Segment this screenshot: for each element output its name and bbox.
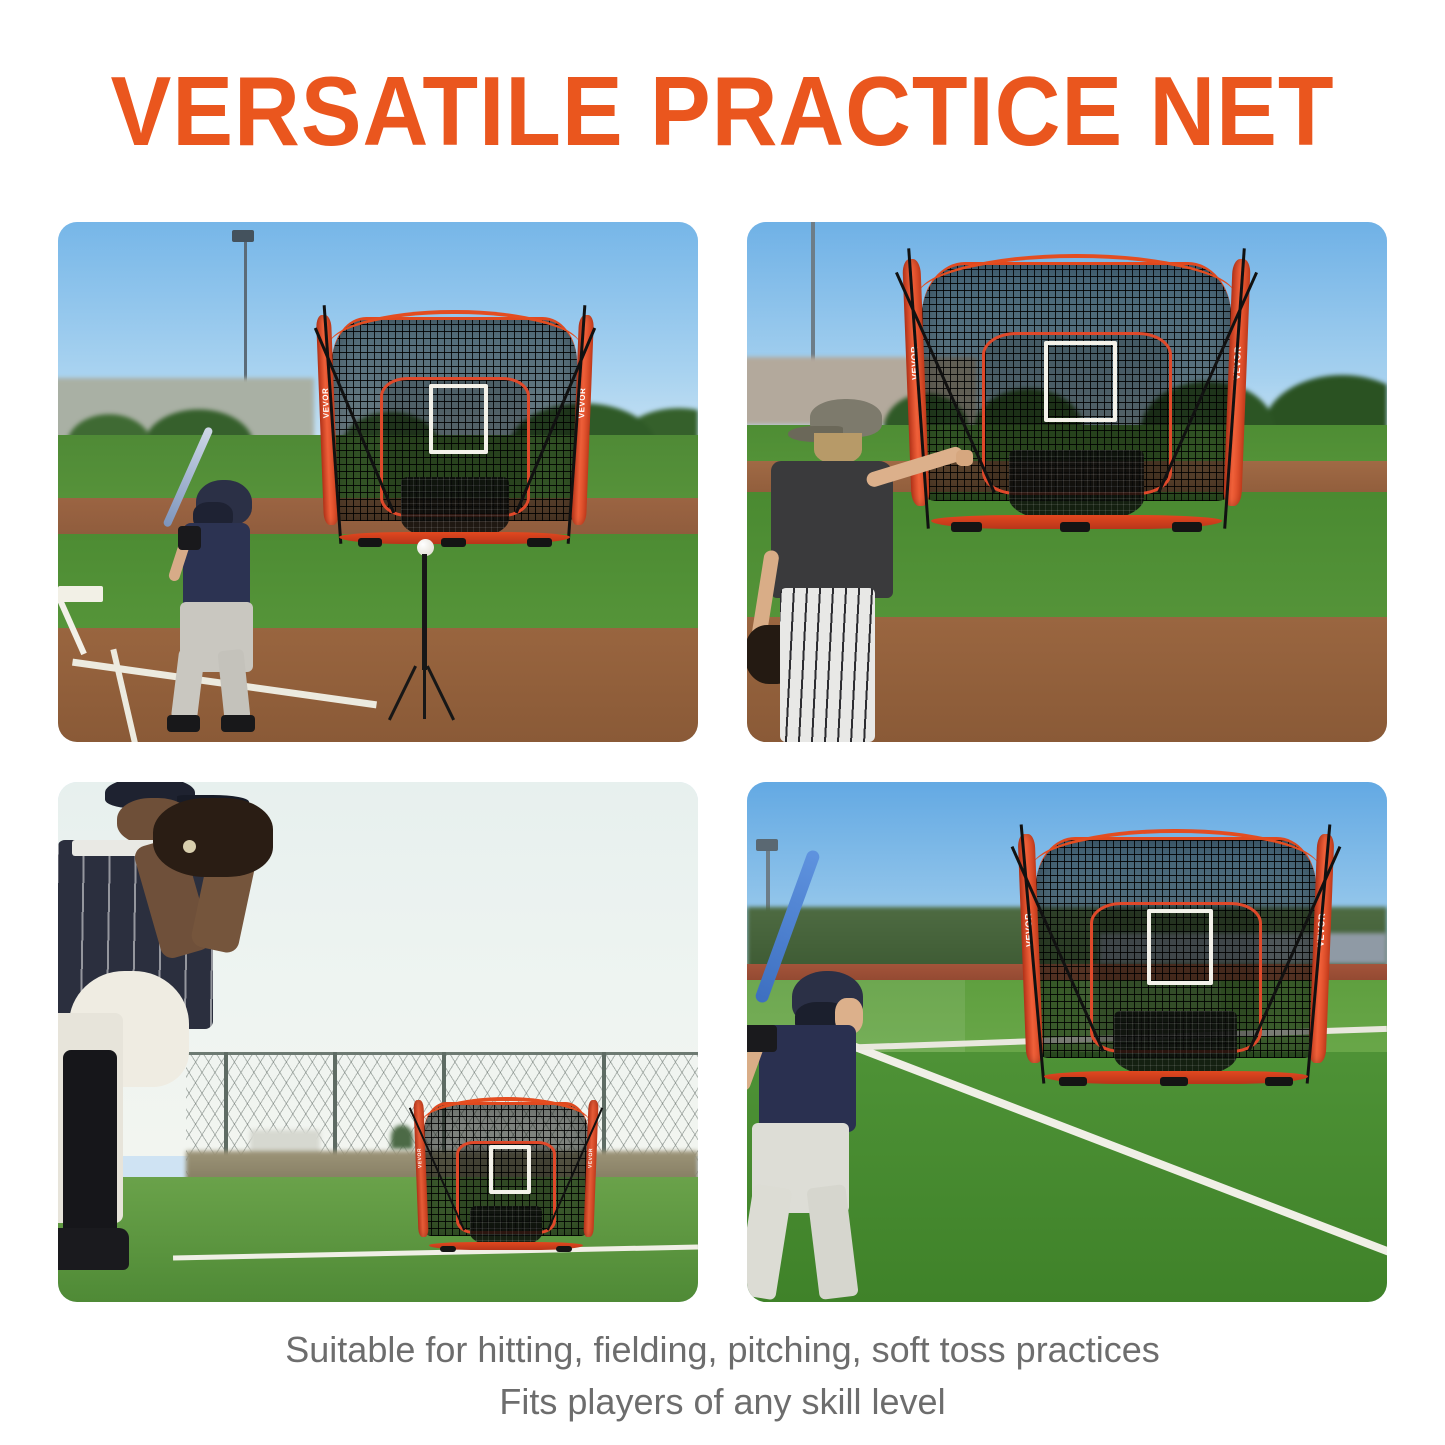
page-title: VERSATILE PRACTICE NET [51, 62, 1395, 162]
net-foot-right [1265, 1077, 1293, 1086]
stadium-light-head [232, 230, 254, 242]
palm-tree [391, 1125, 413, 1149]
net-top-bow [422, 1097, 590, 1123]
net-foot-right [556, 1246, 572, 1251]
photo-scene-turf-hitting: VEVOR VEVOR [747, 782, 1387, 1302]
strike-zone-target [429, 384, 488, 454]
feature-caption: Suitable for hitting, fielding, pitching… [0, 1324, 1445, 1428]
product-image-grid: VEVOR VEVOR [58, 222, 1387, 1302]
photo-scene-pitching: VEVOR VEVOR [747, 222, 1387, 742]
leg-front [747, 1183, 793, 1300]
batting-glove [178, 526, 201, 550]
pinstripe-pants [780, 588, 876, 742]
net-foot-right [527, 538, 551, 546]
net-foot-left [440, 1246, 456, 1251]
photo-scene-windup: VEVOR VEVOR [58, 782, 698, 1302]
adult-pitcher [58, 782, 340, 1302]
stadium-light-head [756, 839, 778, 851]
net-top-bow [328, 310, 581, 347]
strike-zone-target [1147, 909, 1213, 985]
cleat-front [167, 715, 199, 731]
leg-front [171, 649, 205, 722]
tee-leg-center [423, 663, 426, 719]
practice-net: VEVOR VEVOR [416, 1094, 595, 1250]
product-photo-turf-hitting[interactable]: VEVOR VEVOR [747, 782, 1387, 1302]
stirrup-sock [63, 1050, 117, 1239]
net-foot-left [1059, 1077, 1087, 1086]
net-sock-catcher [1009, 450, 1145, 523]
net-top-bow [1031, 829, 1320, 869]
caption-line-1: Suitable for hitting, fielding, pitching… [0, 1324, 1445, 1376]
brand-label-right: VEVOR [588, 1148, 594, 1168]
product-photo-pitching[interactable]: VEVOR VEVOR [747, 222, 1387, 742]
youth-batter [141, 461, 295, 731]
practice-net: VEVOR VEVOR [1022, 824, 1329, 1084]
batting-tee [378, 539, 480, 726]
strike-zone-target [489, 1145, 531, 1194]
strike-zone-target [1044, 341, 1116, 422]
batting-glove [747, 1025, 777, 1052]
net-sock-catcher [470, 1206, 542, 1247]
tee-leg-right [426, 665, 455, 720]
hair [814, 433, 862, 464]
photo-scene-tee-hitting: VEVOR VEVOR [58, 222, 698, 742]
net-foot-mid [1160, 1077, 1188, 1086]
product-photo-windup[interactable]: VEVOR VEVOR [58, 782, 698, 1302]
home-plate [58, 586, 103, 602]
product-photo-tee-hitting[interactable]: VEVOR VEVOR [58, 222, 698, 742]
teen-pitcher [753, 399, 971, 742]
throwing-hand [956, 450, 973, 466]
net-foot-mid [1060, 522, 1091, 532]
cleat [58, 1228, 129, 1270]
practice-net: VEVOR VEVOR [320, 305, 589, 544]
baseball-glove [153, 798, 273, 877]
brand-label-left: VEVOR [418, 1148, 424, 1168]
tee-post [422, 554, 427, 670]
net-foot-right [1172, 522, 1203, 532]
leg-back [806, 1184, 859, 1300]
baseball-in-glove [183, 840, 196, 853]
youth-batter-turf [747, 855, 913, 1302]
tee-leg-left [388, 665, 417, 720]
caption-line-2: Fits players of any skill level [0, 1376, 1445, 1428]
cleat-back [221, 715, 255, 731]
net-top-bow [917, 254, 1236, 297]
net-sock-catcher [1114, 1011, 1237, 1079]
net-sock-catcher [401, 477, 509, 539]
